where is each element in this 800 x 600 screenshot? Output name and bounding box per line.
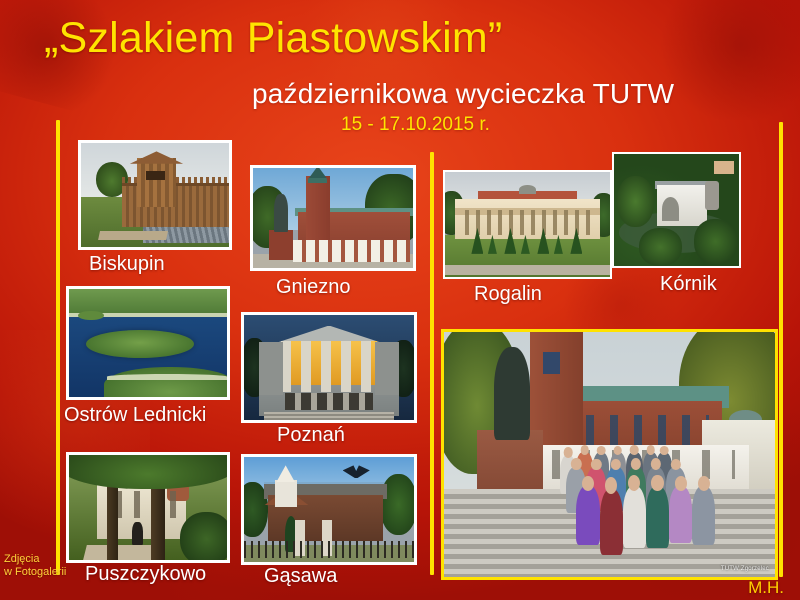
slide-title: „Szlakiem Piastowskim” [44, 14, 502, 63]
caption-puszczykowo: Puszczykowo [85, 563, 206, 586]
trip-date-range: 15 - 17.10.2015 r. [341, 114, 490, 136]
presentation-slide: „Szlakiem Piastowskim” październikowa wy… [0, 0, 800, 600]
photo-kornik [612, 152, 741, 268]
divider-rule-middle [430, 152, 434, 575]
caption-rogalin: Rogalin [474, 283, 542, 306]
caption-ostrow-lednicki: Ostrów Lednicki [64, 404, 206, 427]
photo-puszczykowo [66, 452, 230, 563]
caption-poznan: Poznań [277, 424, 345, 447]
photo-ostrow-lednicki [66, 286, 230, 400]
photo-poznan [241, 312, 417, 423]
gallery-note: Zdjęcia w Fotogalerii [4, 553, 66, 579]
photo-gasawa [241, 454, 417, 565]
gallery-note-line2: w Fotogalerii [4, 566, 66, 579]
slide-subtitle: październikowa wycieczka TUTW [252, 78, 674, 110]
photo-group-tour: TUTW Zgorzelec [441, 329, 778, 580]
photo-biskupin [78, 140, 232, 250]
gallery-note-line1: Zdjęcia [4, 553, 66, 566]
caption-gniezno: Gniezno [276, 276, 351, 299]
divider-rule-right [779, 122, 783, 577]
author-initials: M.H. [748, 578, 784, 598]
divider-rule-left [56, 120, 60, 575]
photo-watermark: TUTW Zgorzelec [721, 566, 769, 572]
photo-rogalin [443, 170, 612, 279]
photo-gniezno [250, 165, 416, 271]
caption-gasawa: Gąsawa [264, 565, 337, 588]
caption-biskupin: Biskupin [89, 253, 165, 276]
caption-kornik: Kórnik [660, 273, 717, 296]
